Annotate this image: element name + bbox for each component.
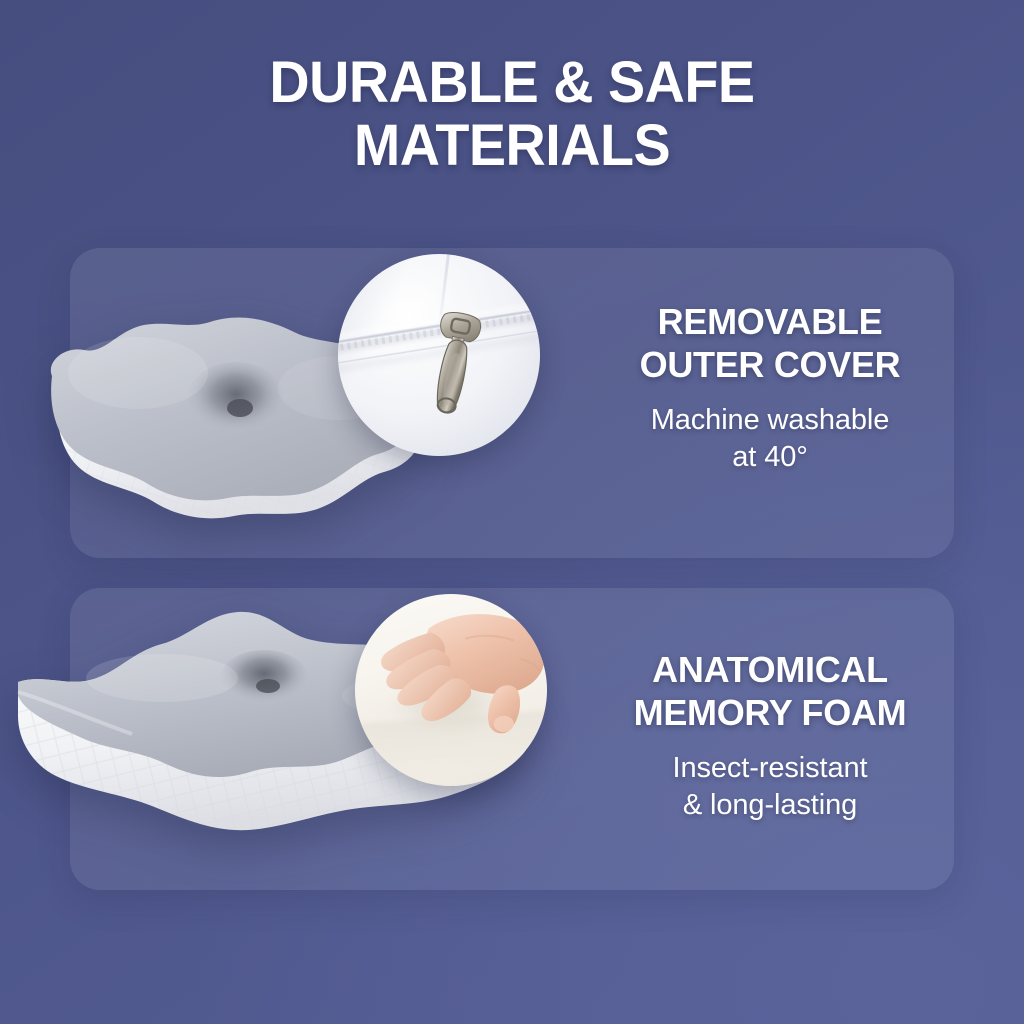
feature-subtext-line-1: Insect-resistant xyxy=(570,750,970,787)
feature-heading-line-2: MEMORY FOAM xyxy=(570,691,970,734)
feature-heading-line-2: OUTER COVER xyxy=(570,343,970,386)
feature-text-removable-outer-cover: REMOVABLE OUTER COVER Machine washable a… xyxy=(570,300,970,475)
feature-subtext: Insect-resistant & long-lasting xyxy=(570,750,970,823)
infographic-canvas: DURABLE & SAFE MATERIALS xyxy=(0,0,1024,1024)
page-title-line-1: DURABLE & SAFE xyxy=(269,50,754,115)
feature-subtext-line-2: & long-lasting xyxy=(570,787,970,824)
feature-subtext-line-1: Machine washable xyxy=(570,402,970,439)
feature-text-anatomical-memory-foam: ANATOMICAL MEMORY FOAM Insect-resistant … xyxy=(570,648,970,823)
feature-subtext-line-2: at 40° xyxy=(570,439,970,476)
feature-heading-line-1: ANATOMICAL xyxy=(570,648,970,691)
feature-heading: REMOVABLE OUTER COVER xyxy=(570,300,970,386)
feature-subtext: Machine washable at 40° xyxy=(570,402,970,475)
feature-heading-line-1: REMOVABLE xyxy=(570,300,970,343)
feature-heading: ANATOMICAL MEMORY FOAM xyxy=(570,648,970,734)
detail-circle-hand-on-foam xyxy=(355,594,547,786)
detail-circle-zipper xyxy=(338,254,540,456)
page-title: DURABLE & SAFE MATERIALS xyxy=(20,52,1003,177)
hand-press-foam-icon xyxy=(367,598,547,740)
page-title-line-2: MATERIALS xyxy=(20,115,1003,178)
